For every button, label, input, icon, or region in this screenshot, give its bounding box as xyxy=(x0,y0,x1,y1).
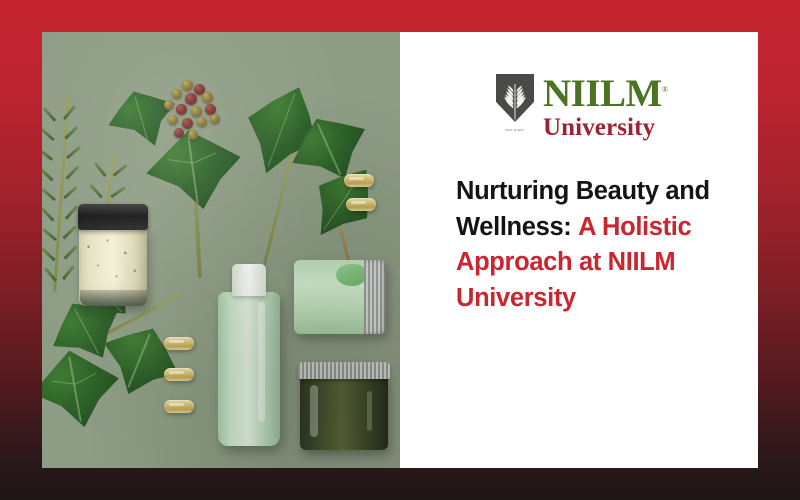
lotion-bottle-cap xyxy=(232,264,266,296)
text-panel: Estd. in 2011 NIILM® University Nurturin… xyxy=(400,32,758,468)
clay-mask-jar xyxy=(298,362,390,450)
supplement-capsule xyxy=(346,198,376,211)
headline: Nurturing Beauty and Wellness: A Holisti… xyxy=(456,174,728,317)
logo-established-text: Estd. in 2011 xyxy=(496,129,534,132)
clay-mask-jar-lid xyxy=(298,362,390,379)
supplement-capsule xyxy=(164,368,194,381)
niilm-university-logo: Estd. in 2011 NIILM® University xyxy=(496,74,728,140)
cream-jar xyxy=(294,260,386,334)
logo-niilm-word: NIILM xyxy=(543,72,662,115)
scrub-jar-body xyxy=(79,228,147,306)
logo-university-text: University xyxy=(543,115,667,140)
shield-icon: Estd. in 2011 xyxy=(496,74,534,132)
supplement-capsule xyxy=(344,174,374,187)
promo-banner: Estd. in 2011 NIILM® University Nurturin… xyxy=(0,0,800,500)
logo-niilm-text: NIILM® xyxy=(543,74,667,113)
supplement-capsule xyxy=(164,337,194,350)
registered-trademark-icon: ® xyxy=(662,85,668,94)
scrub-jar-lid xyxy=(78,204,148,230)
banner-card: Estd. in 2011 NIILM® University Nurturin… xyxy=(42,32,758,468)
lotion-bottle-body xyxy=(218,292,280,446)
berry-cluster xyxy=(158,80,228,142)
scrub-jar xyxy=(78,204,148,306)
logo-wordmark: NIILM® University xyxy=(543,74,667,140)
lotion-bottle xyxy=(218,264,280,446)
cream-jar-swirl xyxy=(336,264,366,286)
supplement-capsule xyxy=(164,400,194,413)
product-flatlay-photo xyxy=(42,32,400,468)
clay-mask-jar-body xyxy=(300,377,388,450)
cream-jar-lid xyxy=(364,260,386,334)
